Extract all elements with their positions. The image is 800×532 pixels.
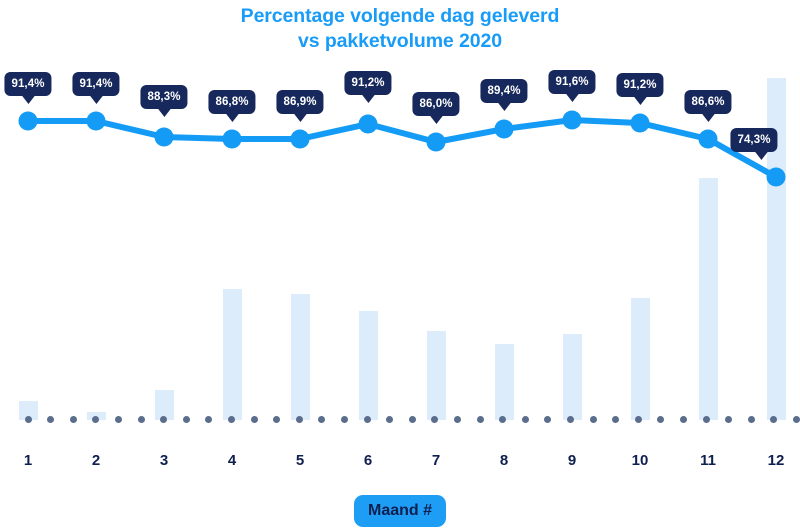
x-tick-label-5: 5 [296,452,304,469]
data-point-marker[interactable] [155,128,174,147]
x-tick-label-8: 8 [500,452,508,469]
value-label: 89,4% [480,79,527,103]
x-axis-title-badge: Maand # [354,495,446,527]
line-series-percentage [0,0,800,440]
chart-container: Percentage volgende dag geleverd vs pakk… [0,0,800,532]
data-point-marker[interactable] [563,111,582,130]
value-label: 74,3% [730,128,777,152]
value-label: 86,0% [412,92,459,116]
data-point-marker[interactable] [359,115,378,134]
x-tick-label-9: 9 [568,452,576,469]
value-label: 91,4% [4,72,51,96]
x-tick-label-2: 2 [92,452,100,469]
data-point-marker[interactable] [427,133,446,152]
data-point-marker[interactable] [87,112,106,131]
plot-area: 91,4%91,4%88,3%86,8%86,9%91,2%86,0%89,4%… [0,0,800,440]
x-tick-label-12: 12 [768,452,785,469]
value-label: 86,6% [684,90,731,114]
value-label: 88,3% [140,85,187,109]
value-label: 91,4% [72,72,119,96]
value-label: 91,2% [616,73,663,97]
data-point-marker[interactable] [631,114,650,133]
x-tick-label-4: 4 [228,452,236,469]
x-tick-label-10: 10 [632,452,649,469]
value-label: 86,9% [276,90,323,114]
line-path [28,120,776,177]
x-tick-label-7: 7 [432,452,440,469]
data-point-marker[interactable] [495,120,514,139]
data-point-marker[interactable] [699,130,718,149]
x-tick-label-11: 11 [700,452,716,469]
data-point-marker[interactable] [767,168,786,187]
x-axis: 123456789101112 [0,440,800,484]
data-point-marker[interactable] [291,130,310,149]
x-tick-label-1: 1 [24,452,32,469]
value-label: 91,2% [344,71,391,95]
x-tick-label-6: 6 [364,452,372,469]
data-point-marker[interactable] [223,130,242,149]
data-point-marker[interactable] [19,112,38,131]
value-label: 91,6% [548,70,595,94]
line-markers [19,111,786,187]
x-tick-label-3: 3 [160,452,168,469]
value-label: 86,8% [208,90,255,114]
